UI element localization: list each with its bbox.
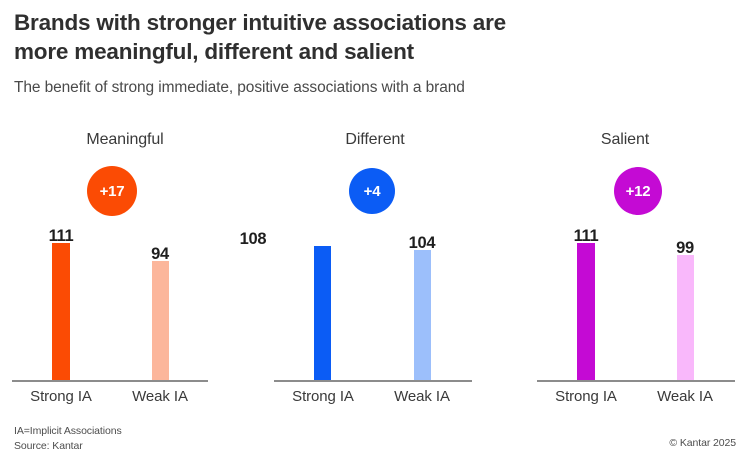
chart-panel-different: Different +4 108 104 Strong IA Weak IA — [250, 126, 500, 411]
bar-weak — [677, 255, 694, 380]
footnote-row-1: IA=Implicit Associations — [14, 421, 736, 436]
bar-strong — [577, 243, 595, 380]
page-title: Brands with stronger intuitive associati… — [14, 8, 714, 66]
chart-panel-salient: Salient +12 111 99 Strong IA Weak IA — [500, 126, 750, 411]
category-label-strong: Strong IA — [21, 388, 101, 405]
bar-weak — [414, 250, 431, 380]
category-label-strong: Strong IA — [283, 388, 363, 405]
chart-panels: Meaningful +17 111 94 Strong IA Weak IA … — [0, 126, 750, 411]
category-label-weak: Weak IA — [382, 388, 462, 405]
axis-line — [537, 380, 735, 382]
footnote-source: Source: Kantar — [14, 440, 83, 452]
copyright-notice: © Kantar 2025 — [669, 436, 736, 451]
axis-line — [12, 380, 208, 382]
category-label-weak: Weak IA — [120, 388, 200, 405]
bar-weak — [152, 261, 169, 380]
category-label-strong: Strong IA — [546, 388, 626, 405]
page-subtitle: The benefit of strong immediate, positiv… — [14, 66, 714, 98]
bar-value-strong: 108 — [213, 230, 293, 249]
chart-panel-meaningful: Meaningful +17 111 94 Strong IA Weak IA — [0, 126, 250, 411]
plot-area: 111 94 Strong IA Weak IA — [0, 126, 250, 411]
footer: IA=Implicit Associations Source: Kantar … — [14, 421, 736, 451]
header: Brands with stronger intuitive associati… — [14, 8, 714, 98]
bar-strong — [314, 246, 331, 380]
plot-area: 108 104 Strong IA Weak IA — [250, 126, 500, 411]
category-label-weak: Weak IA — [645, 388, 725, 405]
bar-strong — [52, 243, 70, 380]
footnote-row-2: Source: Kantar © Kantar 2025 — [14, 436, 736, 451]
chart-slide: Brands with stronger intuitive associati… — [0, 0, 750, 469]
axis-line — [274, 380, 472, 382]
plot-area: 111 99 Strong IA Weak IA — [500, 126, 750, 411]
